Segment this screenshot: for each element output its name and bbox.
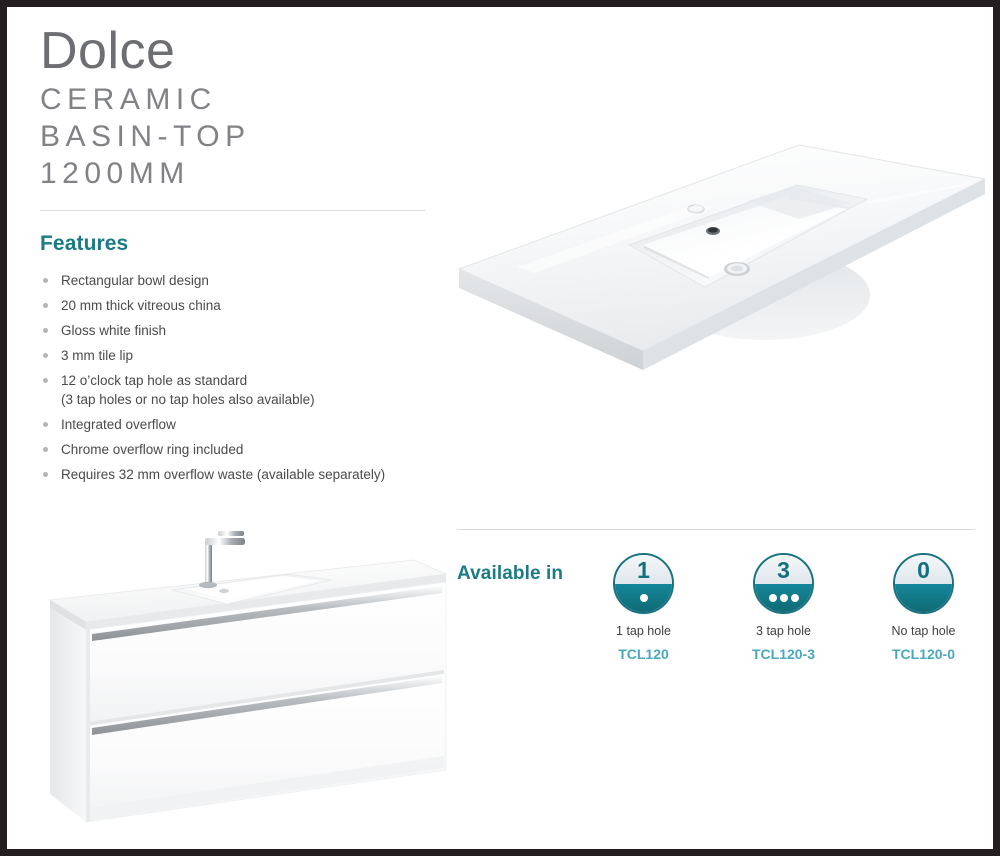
variant-product-code: TCL120 — [605, 646, 682, 662]
feature-text: Chrome overflow ring included — [61, 442, 243, 457]
feature-text: 20 mm thick vitreous china — [61, 298, 221, 313]
variant-product-code: TCL120-0 — [885, 646, 962, 662]
variant-list: 1 1 tap hole TCL120 3 — [605, 553, 962, 662]
badge-dots — [615, 584, 672, 613]
available-in-section: Available in 1 1 tap hole TCL120 — [457, 553, 982, 693]
subtitle-line-3: 1200MM — [40, 155, 440, 192]
basin-illustration — [447, 127, 992, 407]
tap-hole-badge-icon: 1 — [613, 553, 674, 614]
available-heading: Available in — [457, 563, 563, 585]
bullet-icon — [43, 472, 48, 477]
sheet-background: Dolce CERAMIC BASIN-TOP 1200MM Features … — [7, 7, 993, 849]
vanity-illustration — [42, 522, 452, 852]
bullet-icon — [43, 353, 48, 358]
badge-number: 3 — [755, 556, 812, 585]
feature-text: Integrated overflow — [61, 417, 176, 432]
feature-subtext: (3 tap holes or no tap holes also availa… — [61, 392, 440, 408]
feature-item: 20 mm thick vitreous china — [40, 298, 440, 314]
feature-text: 12 o’clock tap hole as standard — [61, 373, 247, 388]
feature-text: Gloss white finish — [61, 323, 166, 338]
feature-item: 3 mm tile lip — [40, 348, 440, 364]
vanity-product-image — [42, 522, 452, 852]
subtitle-line-1: CERAMIC — [40, 81, 440, 118]
tap-hole-dot-icon — [780, 594, 788, 602]
bullet-icon — [43, 278, 48, 283]
variant-option[interactable]: 1 1 tap hole TCL120 — [605, 553, 682, 662]
basin-product-image — [447, 127, 992, 407]
variant-caption: 3 tap hole — [745, 624, 822, 639]
tap-hole-badge-icon: 3 — [753, 553, 814, 614]
variant-option[interactable]: 0 No tap hole TCL120-0 — [885, 553, 962, 662]
features-list: Rectangular bowl design 20 mm thick vitr… — [40, 273, 440, 483]
feature-item: Rectangular bowl design — [40, 273, 440, 289]
subtitle-line-2: BASIN-TOP — [40, 118, 440, 155]
feature-item: Integrated overflow — [40, 417, 440, 433]
bullet-icon — [43, 328, 48, 333]
feature-item: Gloss white finish — [40, 323, 440, 339]
left-column: Dolce CERAMIC BASIN-TOP 1200MM Features … — [40, 21, 440, 492]
feature-text: Requires 32 mm overflow waste (available… — [61, 467, 385, 482]
feature-text: 3 mm tile lip — [61, 348, 133, 363]
badge-dots — [895, 584, 952, 613]
bullet-icon — [43, 303, 48, 308]
feature-item: 12 o’clock tap hole as standard (3 tap h… — [40, 373, 440, 408]
badge-dots — [755, 584, 812, 613]
tap-hole-badge-icon: 0 — [893, 553, 954, 614]
bullet-icon — [43, 422, 48, 427]
page-title: Dolce — [40, 21, 440, 81]
variant-caption: No tap hole — [885, 624, 962, 639]
variant-option[interactable]: 3 3 tap hole TCL120-3 — [745, 553, 822, 662]
badge-number: 0 — [895, 556, 952, 585]
bullet-icon — [43, 447, 48, 452]
variant-product-code: TCL120-3 — [745, 646, 822, 662]
title-divider — [40, 210, 425, 211]
tap-hole-dot-icon — [769, 594, 777, 602]
available-divider — [457, 529, 975, 530]
bullet-icon — [43, 378, 48, 383]
tap-hole-dot-icon — [791, 594, 799, 602]
product-spec-sheet: Dolce CERAMIC BASIN-TOP 1200MM Features … — [0, 0, 1000, 856]
features-heading: Features — [40, 232, 440, 256]
badge-number: 1 — [615, 556, 672, 585]
feature-text: Rectangular bowl design — [61, 273, 209, 288]
feature-item: Requires 32 mm overflow waste (available… — [40, 467, 440, 483]
tap-hole-dot-icon — [640, 594, 648, 602]
feature-item: Chrome overflow ring included — [40, 442, 440, 458]
variant-caption: 1 tap hole — [605, 624, 682, 639]
